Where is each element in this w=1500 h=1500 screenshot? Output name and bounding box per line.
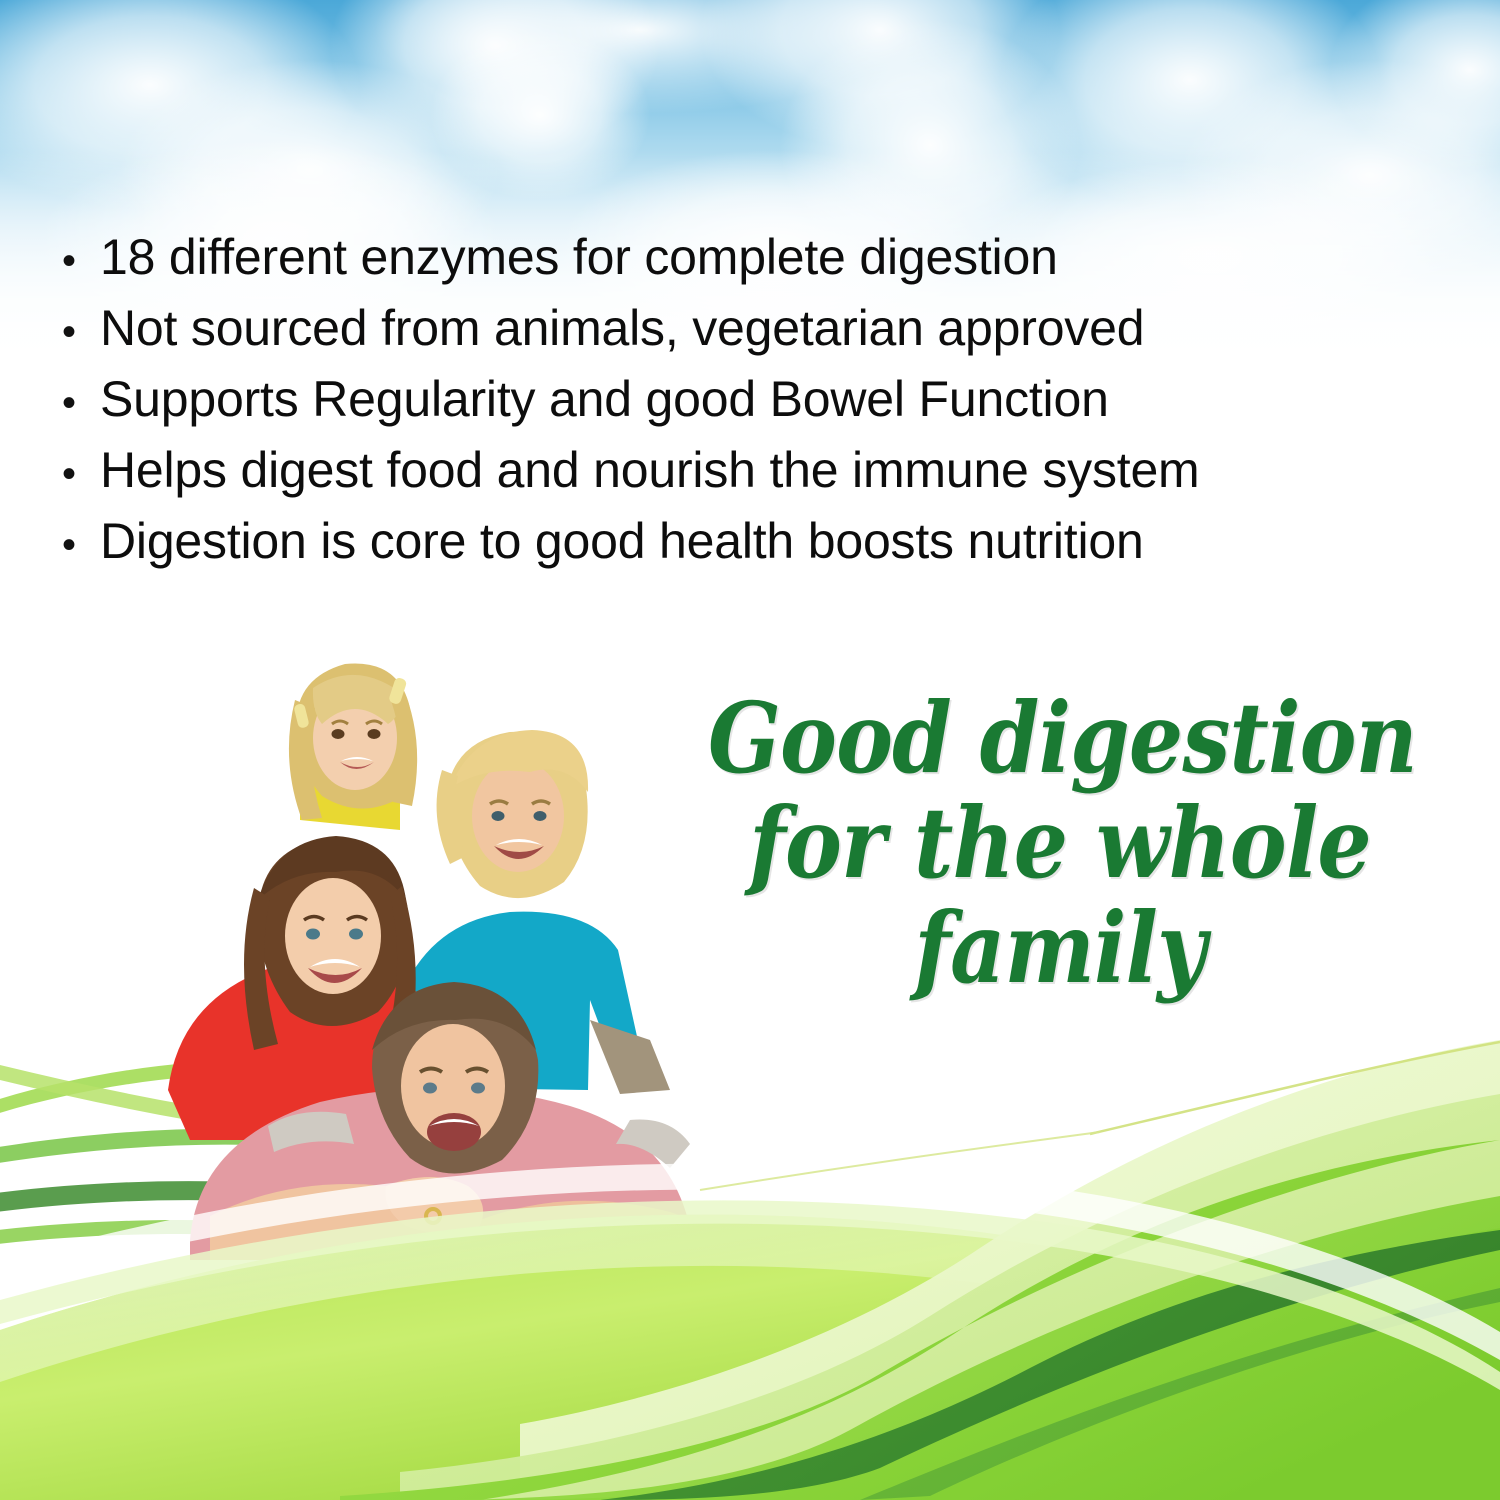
headline-line-2: for the whole (708, 791, 1412, 896)
bullet-item: • Supports Regularity and good Bowel Fun… (62, 374, 1462, 445)
bullet-text: Supports Regularity and good Bowel Funct… (100, 374, 1109, 424)
bullet-item: • 18 different enzymes for complete dige… (62, 232, 1462, 303)
bullet-marker-icon: • (62, 241, 100, 281)
family-photo-illustration (150, 620, 790, 1260)
benefits-bullet-list: • 18 different enzymes for complete dige… (62, 232, 1462, 587)
headline-line-1: Good digestion (708, 686, 1412, 791)
person-girl (289, 663, 417, 830)
bullet-text: Not sourced from animals, vegetarian app… (100, 303, 1144, 353)
headline: Good digestion for the whole family (708, 686, 1412, 1001)
bullet-marker-icon: • (62, 312, 100, 352)
bullet-text: 18 different enzymes for complete digest… (100, 232, 1058, 282)
bullet-text: Helps digest food and nourish the immune… (100, 445, 1200, 495)
bullet-marker-icon: • (62, 454, 100, 494)
bullet-marker-icon: • (62, 525, 100, 565)
family-photo (150, 620, 790, 1260)
bullet-text: Digestion is core to good health boosts … (100, 516, 1144, 566)
bullet-item: • Digestion is core to good health boost… (62, 516, 1462, 587)
bullet-item: • Not sourced from animals, vegetarian a… (62, 303, 1462, 374)
bullet-marker-icon: • (62, 383, 100, 423)
headline-line-3: family (708, 896, 1412, 1001)
bullet-item: • Helps digest food and nourish the immu… (62, 445, 1462, 516)
product-marketing-poster: • 18 different enzymes for complete dige… (0, 0, 1500, 1500)
